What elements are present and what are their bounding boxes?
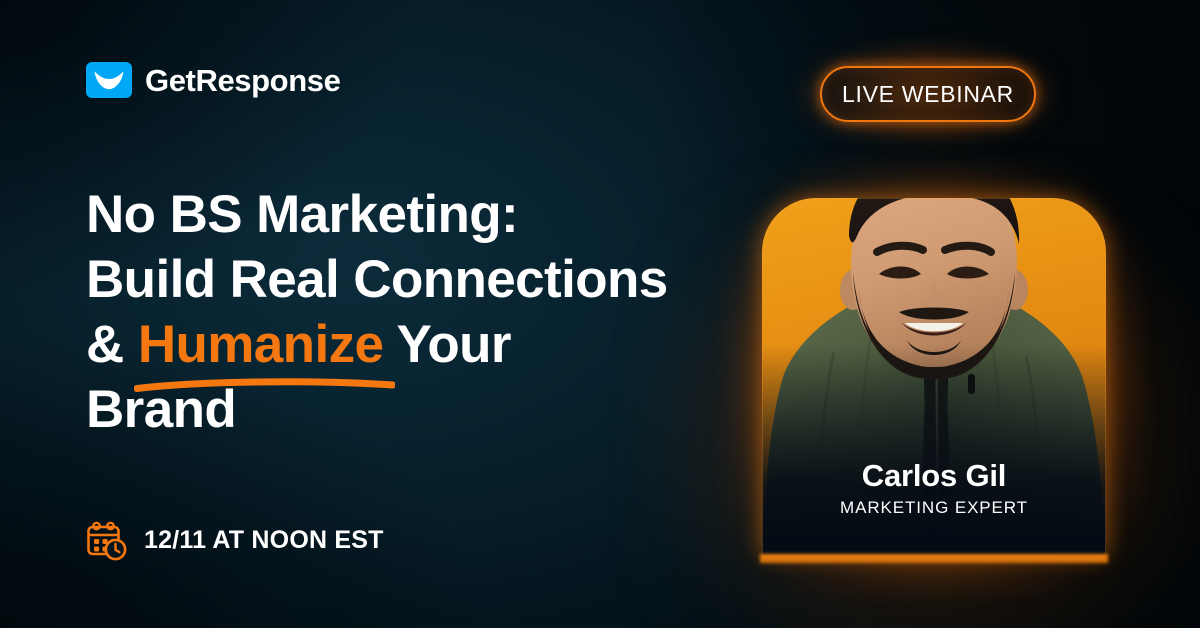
- getresponse-envelope-icon: [86, 62, 132, 98]
- event-date-text: 12/11 AT NOON EST: [144, 526, 384, 555]
- speaker-card-frame: Carlos Gil MARKETING EXPERT: [762, 198, 1106, 556]
- speaker-name: Carlos Gil: [762, 459, 1106, 493]
- speaker-card: Carlos Gil MARKETING EXPERT: [762, 198, 1106, 556]
- headline-accent-word: Humanize: [138, 315, 384, 374]
- speaker-meta: Carlos Gil MARKETING EXPERT: [762, 459, 1106, 518]
- headline-line-3-suffix: Your: [383, 315, 511, 374]
- brand-logo[interactable]: GetResponse: [86, 62, 340, 98]
- badge-label: LIVE WEBINAR: [842, 81, 1014, 108]
- headline-line-4: Brand: [86, 377, 746, 442]
- speaker-card-fade: [762, 344, 1106, 556]
- calendar-clock-icon: [84, 518, 128, 562]
- brand-logo-text: GetResponse: [145, 65, 340, 96]
- headline-block: No BS Marketing: Build Real Connections …: [86, 182, 746, 442]
- speaker-role: MARKETING EXPERT: [762, 498, 1106, 518]
- headline-line-3-prefix: &: [86, 315, 138, 374]
- speaker-card-bottom-bar: [760, 554, 1108, 563]
- promo-canvas: GetResponse LIVE WEBINAR No BS Marketing…: [0, 0, 1200, 628]
- headline-accent-wrap: Humanize: [138, 312, 384, 377]
- headline-line-3: & Humanize Your: [86, 312, 746, 377]
- headline-line-2: Build Real Connections: [86, 247, 746, 312]
- event-date-row: 12/11 AT NOON EST: [84, 518, 384, 562]
- badge-border: LIVE WEBINAR: [820, 66, 1036, 122]
- live-webinar-badge[interactable]: LIVE WEBINAR: [820, 66, 1036, 122]
- headline-line-1: No BS Marketing:: [86, 182, 746, 247]
